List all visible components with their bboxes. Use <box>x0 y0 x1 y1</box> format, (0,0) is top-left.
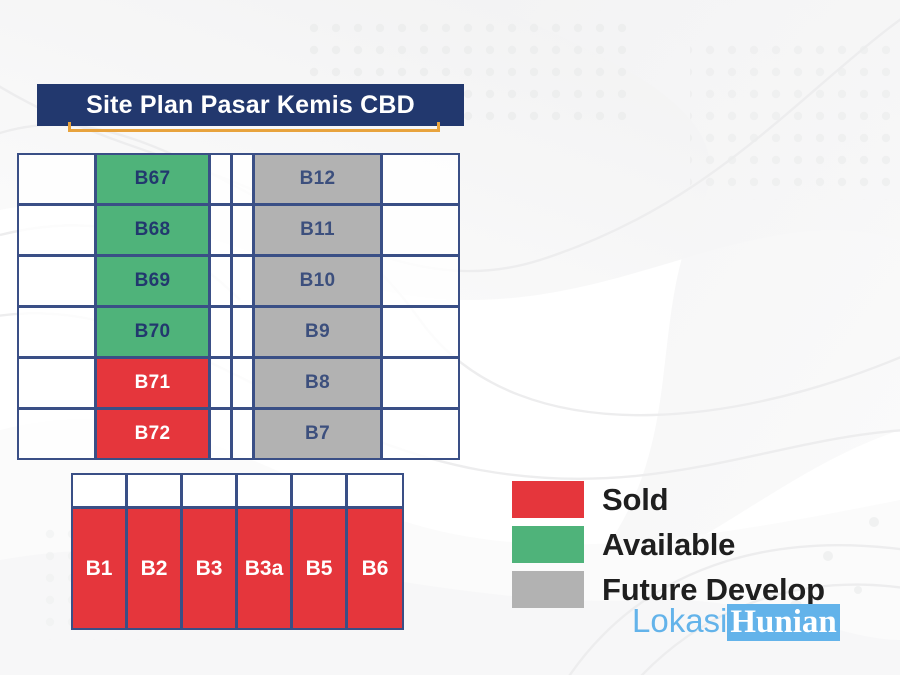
plot-cell-b8[interactable]: B8 <box>253 357 382 409</box>
site-plan-upper-grid: B67B12B68B11B69B10B70B9B71B8B72B7 <box>18 154 460 460</box>
plot-cell-b10[interactable]: B10 <box>253 255 382 307</box>
plot-cell-empty <box>231 306 254 358</box>
site-plan-lower-block: B1B2B3B3aB5B6 <box>72 474 404 630</box>
plot-cell-b68[interactable]: B68 <box>95 204 210 256</box>
plot-cell-b3[interactable]: B3 <box>181 507 237 630</box>
plot-cell-empty <box>381 255 460 307</box>
plot-cell-empty <box>231 408 254 460</box>
plot-cell-empty <box>231 357 254 409</box>
plot-cell-b72[interactable]: B72 <box>95 408 210 460</box>
plot-cell-empty <box>17 153 96 205</box>
lower-strip-cell <box>291 473 347 508</box>
plot-cell-empty <box>381 357 460 409</box>
plot-cell-b12[interactable]: B12 <box>253 153 382 205</box>
plot-cell-b7[interactable]: B7 <box>253 408 382 460</box>
plot-cell-empty <box>17 255 96 307</box>
plot-cell-b69[interactable]: B69 <box>95 255 210 307</box>
title-underline-accent <box>68 122 440 132</box>
plot-cell-b6[interactable]: B6 <box>346 507 404 630</box>
plot-cell-empty <box>209 357 232 409</box>
legend-label: Available <box>602 527 735 563</box>
watermark-lokasihunian: Lokasi Hunian <box>632 602 840 641</box>
lower-strip-cell <box>236 473 292 508</box>
page-title-bar: Site Plan Pasar Kemis CBD <box>37 84 464 126</box>
plot-cell-b9[interactable]: B9 <box>253 306 382 358</box>
lower-strip-cell <box>71 473 127 508</box>
plot-cell-empty <box>209 408 232 460</box>
plot-cell-b2[interactable]: B2 <box>126 507 182 630</box>
page-title: Site Plan Pasar Kemis CBD <box>86 91 415 120</box>
plot-cell-empty <box>231 153 254 205</box>
lower-strip-cell <box>346 473 404 508</box>
lower-strip-cell <box>181 473 237 508</box>
legend-item-available: Available <box>512 522 825 567</box>
plot-cell-b70[interactable]: B70 <box>95 306 210 358</box>
plot-cell-b71[interactable]: B71 <box>95 357 210 409</box>
plot-cell-b1[interactable]: B1 <box>71 507 127 630</box>
watermark-second-word: Hunian <box>727 604 839 641</box>
watermark-first-word: Lokasi <box>632 602 727 640</box>
plot-cell-empty <box>17 357 96 409</box>
plot-cell-b67[interactable]: B67 <box>95 153 210 205</box>
site-plan-lower-grid: B1B2B3B3aB5B6 <box>72 474 404 630</box>
plot-cell-empty <box>231 204 254 256</box>
plot-cell-empty <box>381 153 460 205</box>
plot-cell-empty <box>209 255 232 307</box>
plot-cell-b11[interactable]: B11 <box>253 204 382 256</box>
plot-cell-empty <box>209 204 232 256</box>
plot-cell-empty <box>17 306 96 358</box>
plot-cell-empty <box>381 408 460 460</box>
plot-cell-empty <box>381 306 460 358</box>
site-plan-page: Site Plan Pasar Kemis CBD B67B12B68B11B6… <box>0 0 900 675</box>
site-plan-grid: B67B12B68B11B69B10B70B9B71B8B72B7 <box>18 154 460 460</box>
legend-item-sold: Sold <box>512 477 825 522</box>
legend-swatch-future-develop <box>512 571 584 608</box>
plot-cell-empty <box>17 204 96 256</box>
legend-swatch-available <box>512 526 584 563</box>
plot-cell-empty <box>381 204 460 256</box>
plot-cell-empty <box>209 153 232 205</box>
plot-cell-empty <box>209 306 232 358</box>
plot-cell-empty <box>17 408 96 460</box>
lower-strip-cell <box>126 473 182 508</box>
plot-cell-b3a[interactable]: B3a <box>236 507 292 630</box>
legend: SoldAvailableFuture Develop <box>512 477 825 612</box>
legend-swatch-sold <box>512 481 584 518</box>
plot-cell-empty <box>231 255 254 307</box>
plot-cell-b5[interactable]: B5 <box>291 507 347 630</box>
legend-label: Sold <box>602 482 668 518</box>
